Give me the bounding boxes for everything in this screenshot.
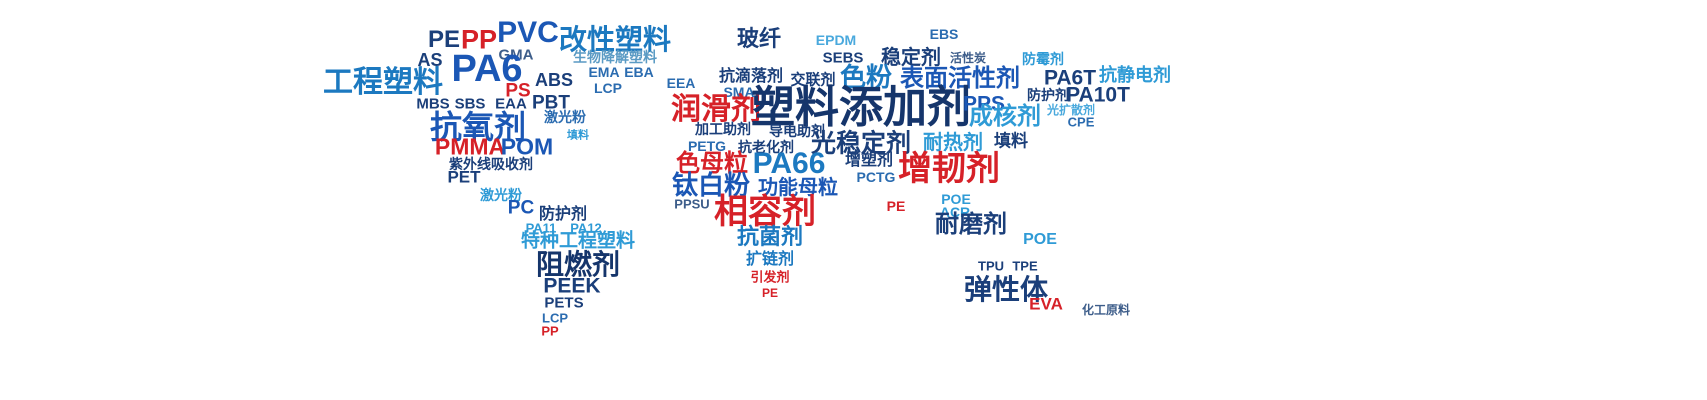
cloud-word[interactable]: TPU: [978, 260, 1004, 273]
cloud-word[interactable]: PPSU: [674, 198, 709, 211]
cloud-word[interactable]: 抗静电剂: [1099, 67, 1171, 85]
cloud-word[interactable]: EMA: [588, 65, 619, 79]
cloud-word[interactable]: 耐磨剂: [935, 212, 1007, 236]
cloud-word[interactable]: EEA: [667, 76, 696, 90]
cloud-word[interactable]: 扩链剂: [746, 251, 794, 267]
cloud-word[interactable]: PETS: [544, 296, 583, 311]
cloud-word[interactable]: PVC: [497, 18, 559, 48]
cloud-word[interactable]: PP: [541, 325, 558, 338]
cloud-word[interactable]: LCP: [594, 81, 622, 95]
cloud-word[interactable]: TPE: [1012, 260, 1037, 273]
cloud-word[interactable]: 引发剂: [750, 272, 789, 285]
cloud-word[interactable]: PE: [762, 287, 778, 299]
cloud-word[interactable]: EBS: [930, 27, 959, 41]
cloud-word[interactable]: EPDM: [816, 33, 856, 47]
cloud-word[interactable]: CPE: [1068, 116, 1095, 129]
cloud-word[interactable]: 抗菌剂: [737, 227, 803, 249]
word-cloud-canvas: PEPPPVCGMA改性塑料玻纤EPDMEBSASPA6生物降解塑料SEBS稳定…: [0, 0, 1707, 400]
cloud-word[interactable]: 填料: [567, 130, 589, 141]
cloud-word[interactable]: ABS: [535, 71, 573, 89]
cloud-word[interactable]: 相容剂: [714, 195, 816, 229]
cloud-word[interactable]: 成核剂: [969, 104, 1041, 128]
cloud-word[interactable]: 防护剂: [1027, 89, 1069, 103]
cloud-word[interactable]: PET: [447, 169, 480, 186]
cloud-word[interactable]: 活性炭: [950, 52, 986, 64]
cloud-word[interactable]: POM: [501, 136, 553, 159]
cloud-word[interactable]: PCTG: [857, 170, 896, 184]
cloud-word[interactable]: PEEK: [543, 276, 600, 297]
cloud-word[interactable]: PMMA: [435, 136, 505, 159]
cloud-word[interactable]: 加工助剂: [695, 123, 751, 137]
cloud-word[interactable]: 工程塑料: [323, 68, 443, 98]
cloud-word[interactable]: 生物降解塑料: [573, 51, 657, 65]
cloud-word[interactable]: 化工原料: [1082, 304, 1130, 316]
cloud-word[interactable]: 增塑剂: [845, 152, 893, 168]
cloud-word[interactable]: 激光粉: [544, 111, 586, 125]
cloud-word[interactable]: 润滑剂: [671, 95, 761, 125]
cloud-word[interactable]: EBA: [624, 65, 654, 79]
cloud-word[interactable]: 填料: [994, 134, 1028, 151]
cloud-word[interactable]: 增韧剂: [898, 152, 1000, 186]
cloud-word[interactable]: 防霉剂: [1022, 53, 1064, 67]
cloud-word[interactable]: POE: [1023, 232, 1057, 248]
cloud-word[interactable]: PC: [508, 199, 534, 218]
cloud-word[interactable]: PE: [887, 199, 906, 213]
cloud-word[interactable]: EVA: [1029, 296, 1063, 313]
cloud-word[interactable]: 玻纤: [737, 29, 781, 51]
